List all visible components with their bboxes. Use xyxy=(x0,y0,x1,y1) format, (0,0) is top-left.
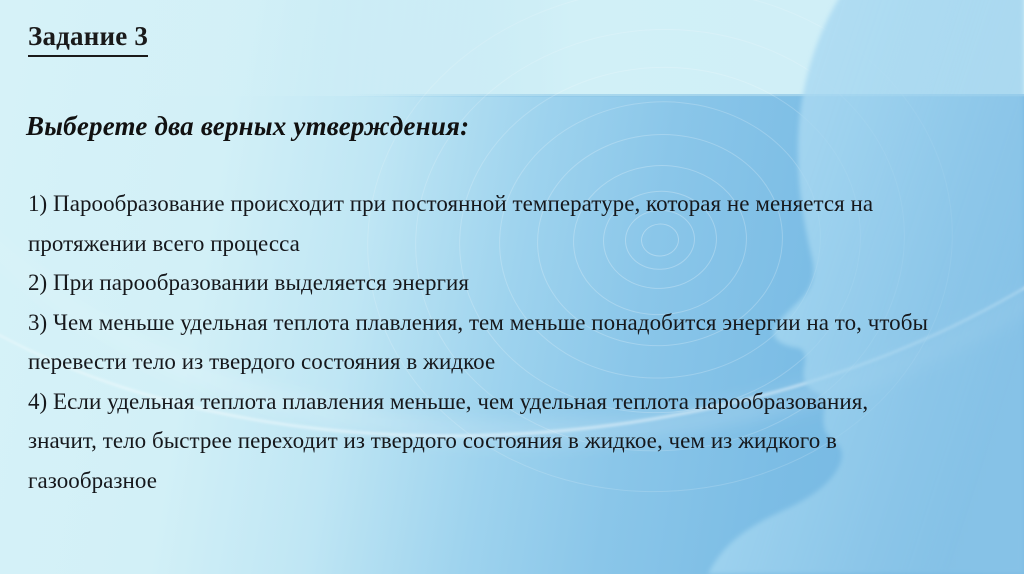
slide-canvas: Задание 3 Выберете два верных утверждени… xyxy=(0,0,1024,574)
statement-item-1: 1) Парообразование происходит при постоя… xyxy=(28,184,930,263)
statement-item-2: 2) При парообразовании выделяется энерги… xyxy=(28,263,968,303)
statement-item-4: 4) Если удельная теплота плавления меньш… xyxy=(28,382,883,501)
statement-item-3: 3) Чем меньше удельная теплота плавления… xyxy=(28,303,928,382)
statements-list: 1) Парообразование происходит при постоя… xyxy=(28,184,968,500)
slide-subtitle: Выберете два верных утверждения: xyxy=(26,112,469,142)
slide-content: Задание 3 Выберете два верных утверждени… xyxy=(0,0,1024,574)
page-title: Задание 3 xyxy=(28,22,148,57)
